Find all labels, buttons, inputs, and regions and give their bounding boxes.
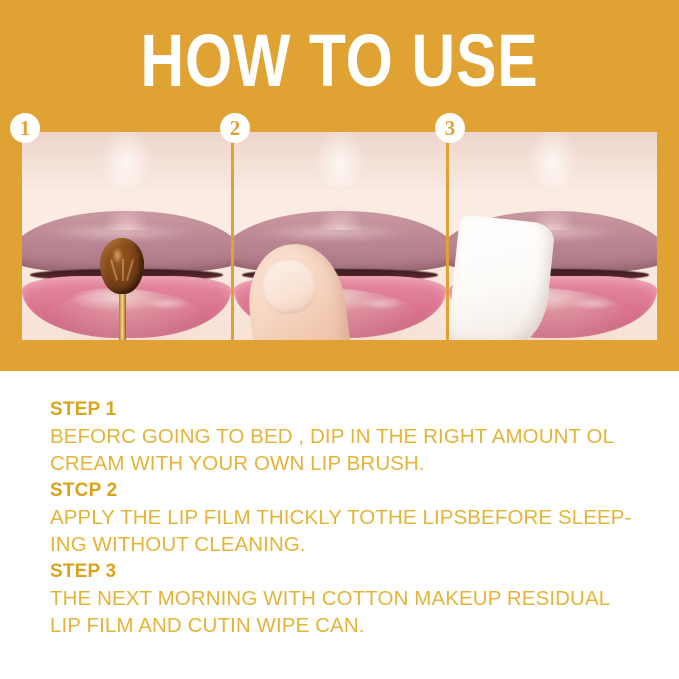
step-3-line-1: THE NEXT MORNING WITH COTTON MAKEUP RESI…: [50, 585, 650, 612]
step-badge-1: 1: [10, 113, 40, 143]
step-1-photo: [22, 132, 231, 340]
step-2-heading: STCP 2: [50, 477, 650, 504]
lip-brush-applicator-icon: [100, 238, 144, 294]
upper-lip-gloss: [259, 222, 406, 243]
step-2-photo: [234, 132, 446, 340]
photo-strip: [22, 132, 657, 340]
fingernail: [259, 257, 319, 317]
step-3-line-2: LIP FILM AND CUTIN WIPE CAN.: [50, 612, 650, 639]
step-badge-2: 2: [220, 113, 250, 143]
steps-text-block: STEP 1 BEFORC GOING TO BED , DIP IN THE …: [50, 396, 650, 639]
step-1-line-1: BEFORC GOING TO BED , DIP IN THE RIGHT A…: [50, 423, 650, 450]
page-title: HOW TO USE: [61, 26, 618, 96]
cotton-pad-icon: [449, 215, 556, 340]
step-2-line-1: APPLY THE LIP FILM THICKLY TOTHE LIPSBEF…: [50, 504, 650, 531]
how-to-use-infographic: HOW TO USE: [0, 0, 679, 679]
step-1-heading: STEP 1: [50, 396, 650, 423]
step-1-line-2: CREAM WITH YOUR OWN LIP BRUSH.: [50, 450, 650, 477]
brush-bristle: [122, 259, 124, 281]
philtrum: [101, 132, 151, 188]
step-3-photo: [449, 132, 657, 340]
brush-bristle: [126, 259, 134, 281]
step-2-line-2: ING WITHOUT CLEANING.: [50, 531, 650, 558]
step-badge-3: 3: [435, 113, 465, 143]
step-3-heading: STEP 3: [50, 558, 650, 585]
